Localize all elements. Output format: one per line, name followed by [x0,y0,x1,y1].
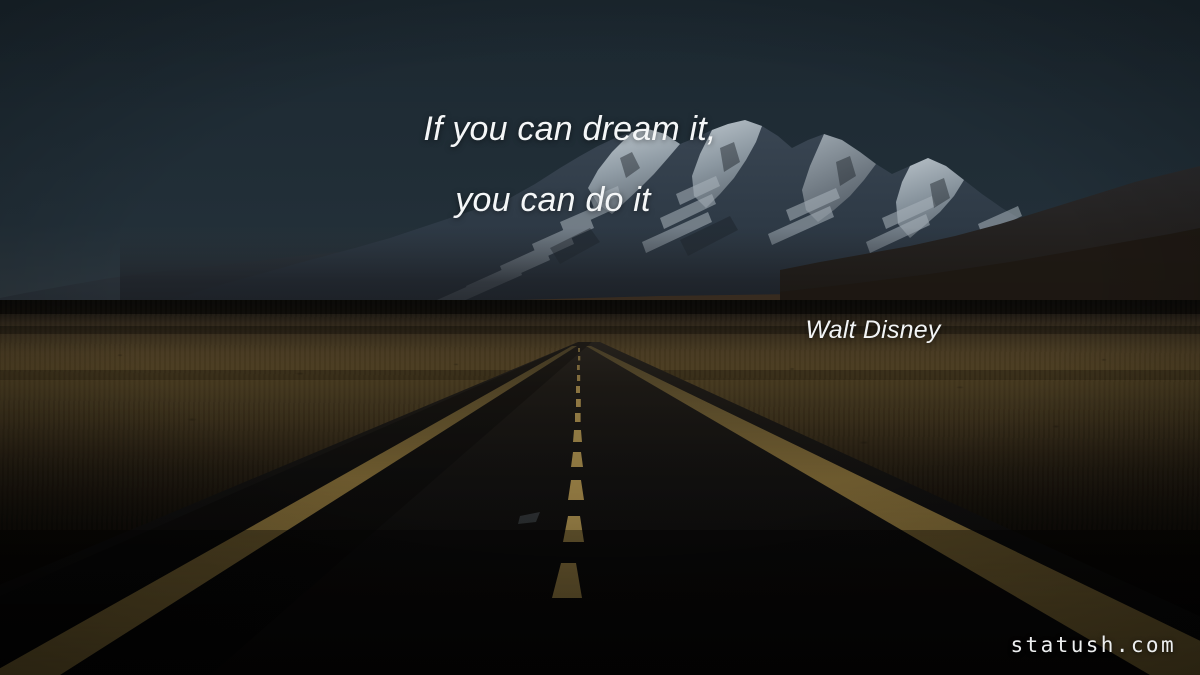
quote-author-label: Walt Disney [805,316,940,345]
road-layer [0,330,1200,675]
quote-author: Walt Disney [0,316,1200,345]
site-watermark: statush.com [1011,633,1176,657]
quote-line-2: you can do it [0,183,1140,217]
quote-line-1: If you can dream it, [0,112,1140,146]
quote-text: If you can dream it, you can do it [0,112,1140,254]
quote-card: If you can dream it, you can do it Walt … [0,0,1200,675]
